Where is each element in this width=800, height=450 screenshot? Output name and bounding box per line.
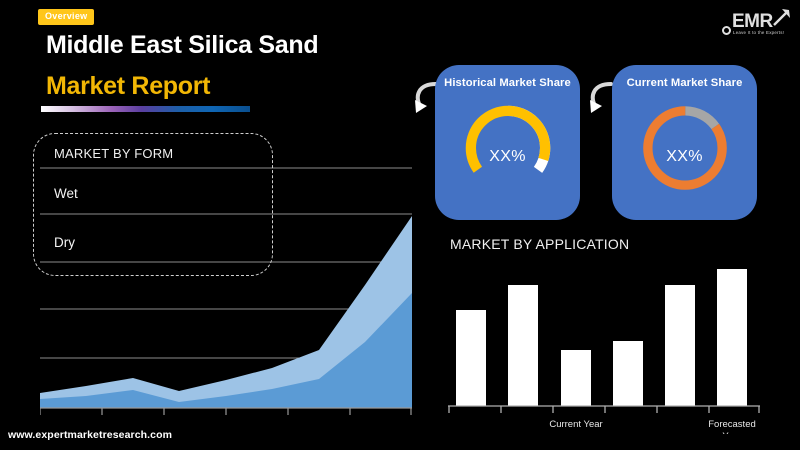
- logo-circle-icon: [722, 26, 731, 35]
- current-card-title: Current Market Share: [612, 77, 757, 89]
- current-market-share-card: Current Market Share XX%: [612, 65, 757, 220]
- logo-wordmark: EMR: [732, 12, 773, 31]
- page-title: Middle East Silica Sand: [46, 30, 446, 60]
- title-underline-gradient: [41, 106, 250, 112]
- x-axis-ticks: [40, 408, 411, 415]
- footer-url: www.expertmarketresearch.com: [8, 429, 172, 441]
- market-by-application-heading: MARKET BY APPLICATION: [450, 236, 629, 252]
- slide-canvas: Overview Middle East Silica Sand Market …: [0, 0, 800, 450]
- bar: [508, 285, 538, 406]
- bar-label-forecasted-year-l2: Year: [722, 431, 741, 434]
- bar: [613, 341, 643, 406]
- overview-badge: Overview: [38, 9, 94, 25]
- historical-market-share-card: Historical Market Share XX%: [435, 65, 580, 220]
- logo-tagline: Leave It to the Experts!: [733, 30, 784, 35]
- growth-arrow-icon: [772, 8, 792, 28]
- emr-logo: EMR Leave It to the Experts!: [716, 6, 794, 42]
- bar-label-forecasted-year-l1: Forecasted: [708, 419, 756, 430]
- bar-label-current-year: Current Year: [549, 419, 602, 430]
- bars: [456, 269, 747, 406]
- historical-donut-value: XX%: [435, 148, 580, 166]
- market-by-form-item-dry: Dry: [54, 235, 75, 250]
- x-axis-ticks: [449, 406, 759, 413]
- bar: [665, 285, 695, 406]
- application-bar-chart: Current Year Forecasted Year: [444, 262, 780, 434]
- market-by-form-heading: MARKET BY FORM: [54, 146, 173, 161]
- historical-card-title: Historical Market Share: [435, 77, 580, 89]
- bar: [456, 310, 486, 406]
- market-by-form-item-wet: Wet: [54, 186, 78, 201]
- bar: [561, 350, 591, 406]
- current-donut-value: XX%: [612, 148, 757, 166]
- page-subtitle: Market Report: [46, 71, 210, 101]
- bar: [717, 269, 747, 406]
